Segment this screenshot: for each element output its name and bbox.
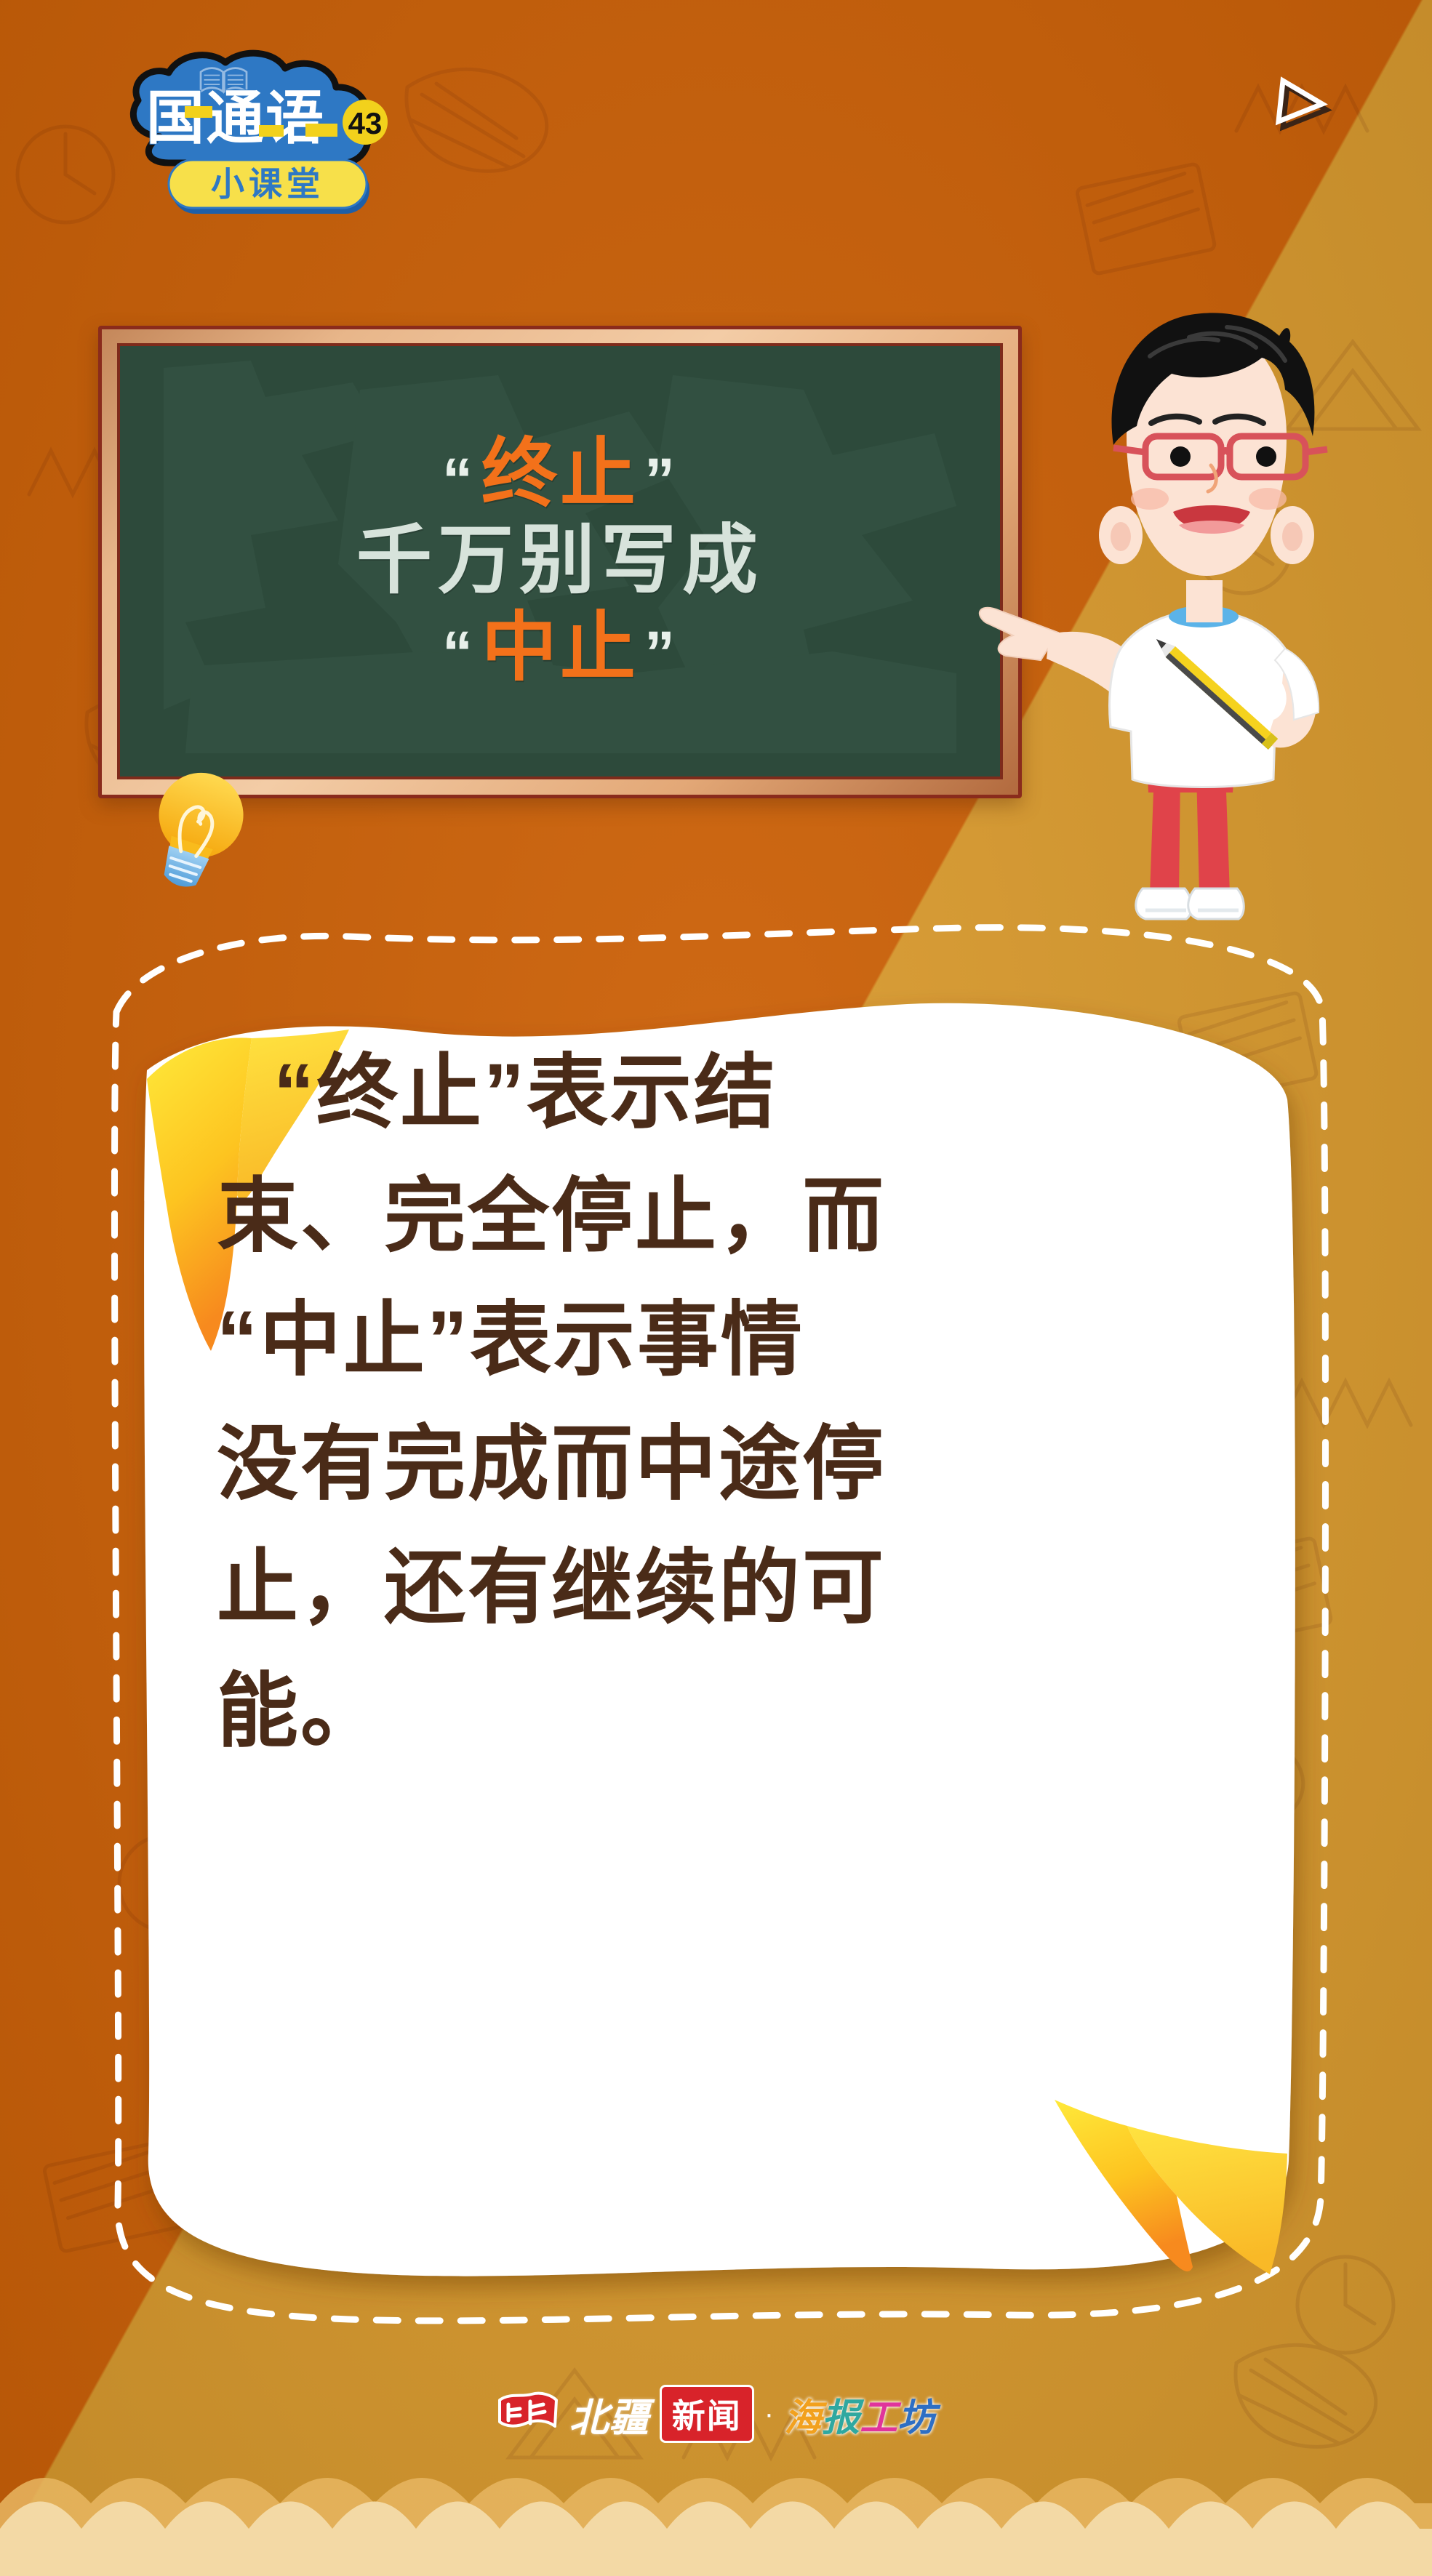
blackboard-line-1: “终止” [436, 435, 684, 514]
footer-brand-name: 北疆 [569, 2386, 649, 2443]
blackboard: “终止” 千万别写成 “中止” [98, 326, 1022, 798]
card-line-2: 束、完全停止，而 [217, 1155, 1238, 1278]
boy-student-illustration [971, 218, 1432, 952]
bei-flag-icon [497, 2388, 559, 2439]
logo-subtitle-pill: 小课堂 [169, 160, 369, 214]
blackboard-keyword-zhongzhi2: 中止 [481, 606, 639, 690]
bottom-scallop-decoration [0, 2460, 1432, 2576]
footer-brand-bar: 北疆 新闻 · 海报工坊 [0, 2385, 1432, 2443]
quote-close-1: ” [639, 446, 684, 514]
footer-studio-name: 海报工坊 [784, 2387, 935, 2441]
quote-close-2: ” [639, 619, 684, 687]
quote-open-1: “ [436, 446, 481, 514]
blackboard-line-3: “中止” [436, 609, 684, 688]
logo-subtitle: 小课堂 [211, 165, 324, 203]
boy-left-hand [980, 608, 1058, 660]
footer-news-badge: 新闻 [660, 2385, 754, 2443]
logo-title: 国通语 [146, 86, 325, 151]
lightbulb-icon [135, 762, 259, 893]
blackboard-line-2: 千万别写成 [356, 521, 764, 601]
card-line-6: 能。 [217, 1650, 1238, 1773]
blackboard-text-block: “终止” 千万别写成 “中止” [120, 346, 1000, 777]
episode-badge-label: 43 [348, 106, 383, 140]
blackboard-keyword-zhongzhi: 终止 [481, 432, 639, 516]
card-line-1: “终止”表示结 [217, 1031, 1238, 1155]
glasses-icon [1113, 436, 1327, 477]
quote-open-2: “ [436, 619, 481, 687]
brand-logo: 国通语 43 小课堂 [93, 49, 442, 231]
card-text-block: “终止”表示结 束、完全停止，而 “中止”表示事情 没有完成而中途停 止，还有继… [217, 1031, 1238, 1773]
card-line-5: 止，还有继续的可 [217, 1526, 1238, 1650]
studio-char-3: 工 [860, 2398, 897, 2439]
play-triangle-icon [1265, 69, 1338, 142]
boy-shoes [1136, 888, 1244, 919]
boy-shirt [1110, 606, 1298, 787]
footer-separator: · [764, 2398, 774, 2431]
card-line-4: 没有完成而中途停 [217, 1403, 1238, 1526]
content-card: “终止”表示结 束、完全停止，而 “中止”表示事情 没有完成而中途停 止，还有继… [109, 925, 1331, 2335]
studio-char-2: 报 [822, 2398, 860, 2439]
poster-root: 国通语 43 小课堂 [0, 0, 1432, 2576]
blackboard-surface: “终止” 千万别写成 “中止” [117, 343, 1003, 779]
studio-char-4: 坊 [897, 2398, 935, 2439]
card-line-3: “中止”表示事情 [217, 1278, 1238, 1402]
studio-char-1: 海 [784, 2398, 822, 2439]
